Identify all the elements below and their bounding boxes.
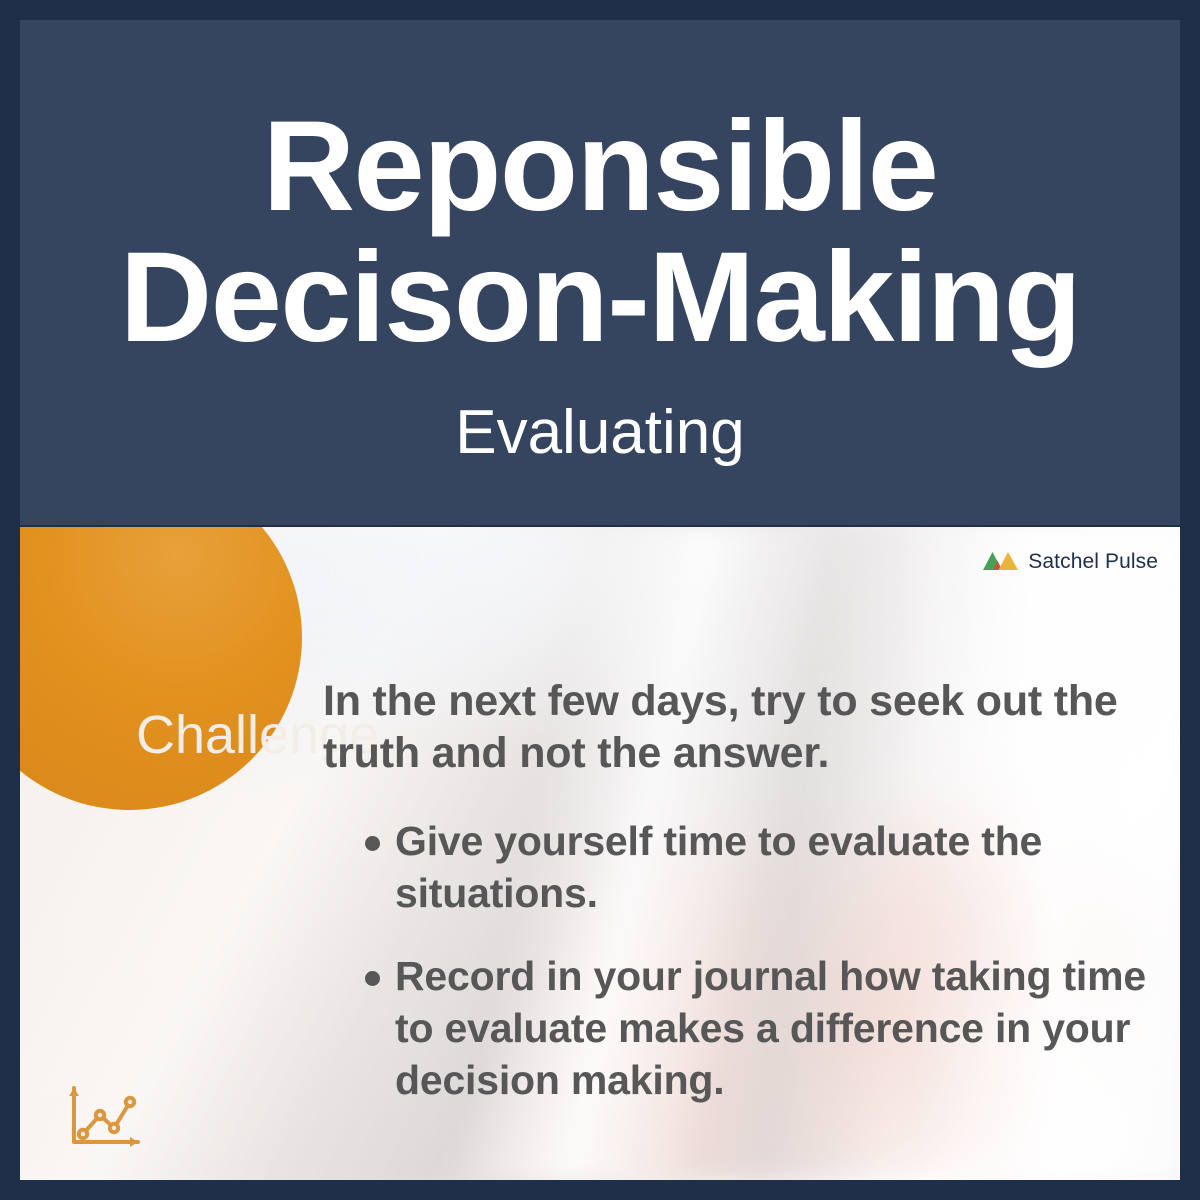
slide-card: Reponsible Decison-Making Evaluating Cha…	[0, 0, 1200, 1200]
header-band: Reponsible Decison-Making Evaluating	[20, 20, 1180, 525]
list-item-label: Give yourself time to evaluate the situa…	[395, 818, 1042, 916]
list-item: Record in your journal how taking time t…	[323, 951, 1153, 1106]
list-item-label: Record in your journal how taking time t…	[395, 953, 1146, 1102]
brand-logo-text: Satchel Pulse	[1028, 551, 1158, 572]
page-title: Reponsible Decison-Making	[20, 102, 1180, 363]
content-panel: Challenge Satchel Pulse In the next few …	[20, 527, 1180, 1180]
list-item: Give yourself time to evaluate the situa…	[323, 816, 1153, 919]
challenge-lead-text: In the next few days, try to seek out th…	[323, 675, 1153, 780]
challenge-bullet-list: Give yourself time to evaluate the situa…	[323, 816, 1153, 1106]
bullet-dot-icon	[365, 836, 380, 851]
satchel-pulse-mountains-icon	[983, 550, 1019, 572]
challenge-body: In the next few days, try to seek out th…	[323, 675, 1153, 1106]
brand-logo: Satchel Pulse	[983, 550, 1158, 572]
bullet-dot-icon	[365, 971, 380, 986]
line-chart-icon	[62, 1082, 146, 1154]
page-subtitle: Evaluating	[20, 399, 1180, 467]
